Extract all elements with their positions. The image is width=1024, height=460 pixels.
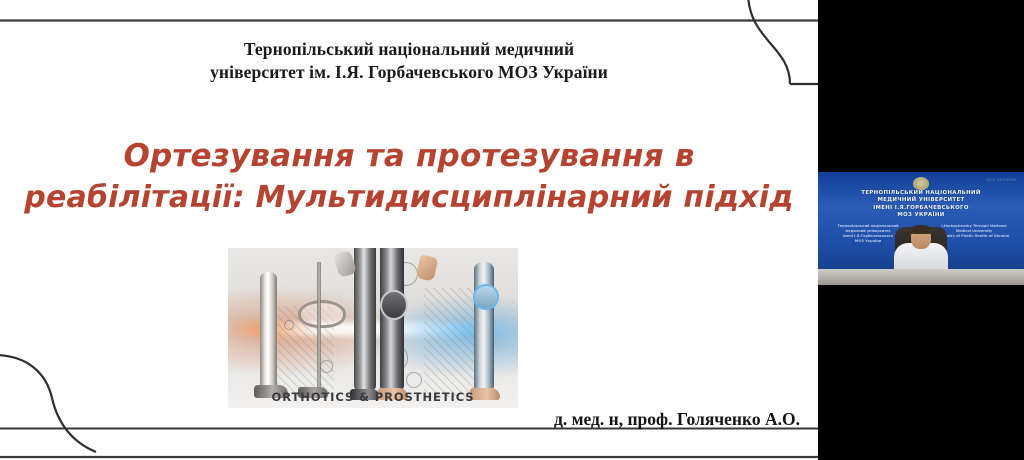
screen-share-view: Тернопільський національний медичний уні… — [0, 0, 1024, 460]
webcam-video-feed[interactable]: МОЗ УКРАЇНИ ТЕРНОПІЛЬСЬКИЙ НАЦІОНАЛЬНИЙ … — [818, 172, 1024, 285]
header-line-1: Тернопільський національний медичний — [0, 38, 818, 61]
tech-circle-3 — [406, 372, 422, 388]
presenter-hair — [911, 225, 932, 234]
title-line-2: реабілітації: Мультидисциплінарний підхі… — [0, 177, 818, 218]
header-line-2: університет ім. І.Я. Горбачевського МОЗ … — [0, 61, 818, 84]
banner-main-line-4: МОЗ УКРАЇНИ — [818, 212, 1024, 219]
tech-circle-5 — [284, 320, 294, 330]
video-panel: МОЗ УКРАЇНИ ТЕРНОПІЛЬСЬКИЙ НАЦІОНАЛЬНИЙ … — [818, 0, 1024, 460]
skeleton-legs — [302, 262, 336, 390]
banner-main-text: ТЕРНОПІЛЬСЬКИЙ НАЦІОНАЛЬНИЙ МЕДИЧНИЙ УНІ… — [818, 190, 1024, 220]
robotic-knee-joint — [380, 290, 408, 320]
banner-main-line-2: МЕДИЧНИЙ УНІВЕРСИТЕТ — [818, 197, 1024, 204]
blue-prosthetic-leg — [474, 262, 494, 390]
slide-header: Тернопільський національний медичний уні… — [0, 38, 818, 84]
illustration-caption: ORTHOTICS & PROSTHETICS — [228, 390, 518, 404]
orthotic-leg — [260, 272, 277, 390]
blue-knee-joint — [473, 284, 499, 310]
presentation-slide: Тернопільський національний медичний уні… — [0, 0, 818, 460]
prosthetics-illustration: ORTHOTICS & PROSTHETICS — [228, 248, 518, 408]
presenter-attribution: д. мед. н, проф. Голяченко А.О. — [554, 409, 800, 430]
title-line-1: Ортезування та протезування в — [0, 136, 818, 177]
robotic-leg-left — [354, 248, 376, 390]
banner-corner-text: МОЗ УКРАЇНИ — [986, 178, 1016, 182]
university-crest-icon — [913, 177, 929, 190]
desk-surface — [818, 269, 1024, 285]
slide-title: Ортезування та протезування в реабілітац… — [0, 136, 818, 218]
